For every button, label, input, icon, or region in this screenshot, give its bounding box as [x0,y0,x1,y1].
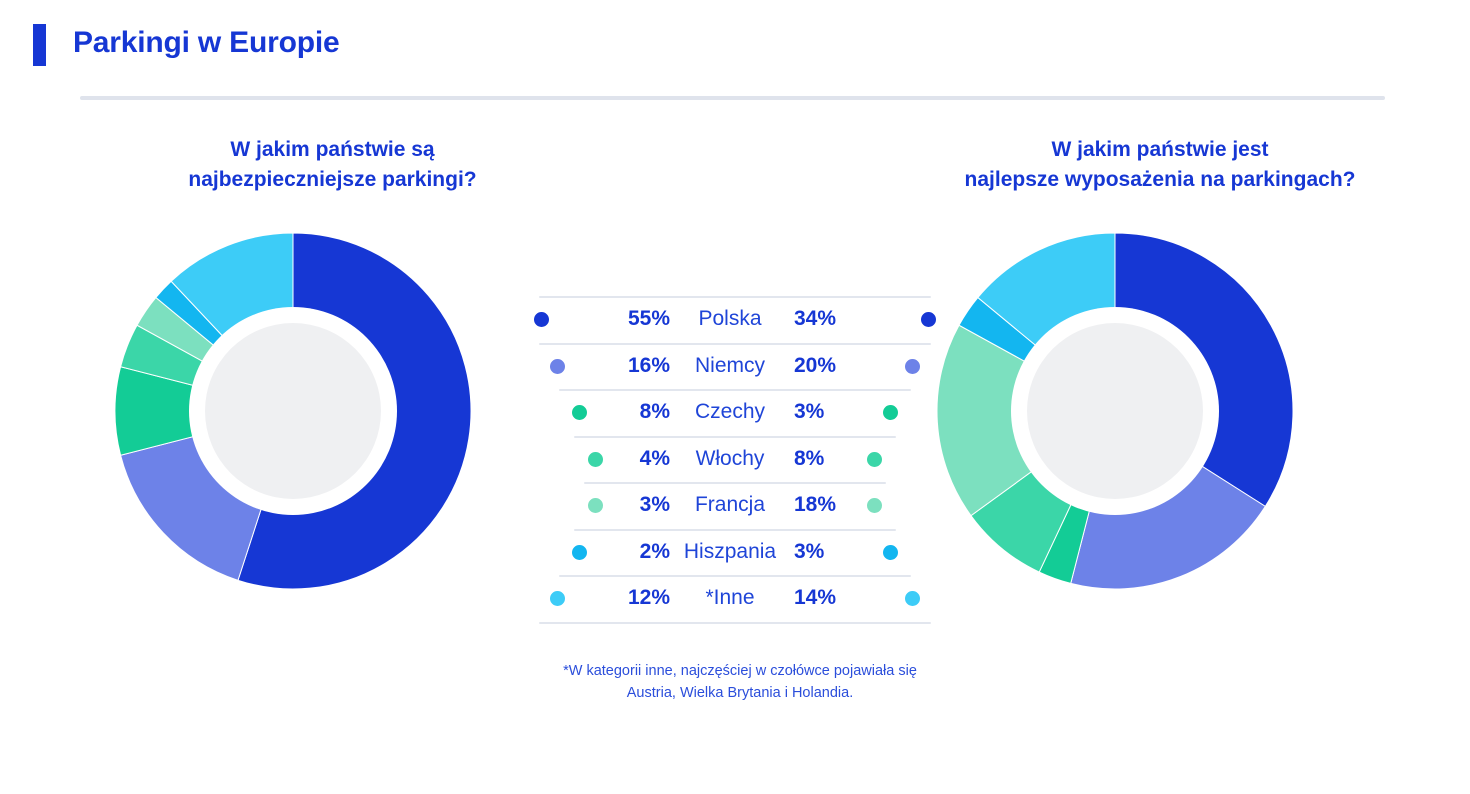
legend-row-divider [539,296,931,298]
legend-value-right: 3% [794,538,878,566]
legend-country-name: Niemcy [665,352,795,380]
donut-chart-left-svg [113,231,473,591]
legend-value-left: 55% [586,305,670,333]
legend-value-left: 2% [586,538,670,566]
legend-dot-right-icon [883,405,898,420]
legend-country-name: Hiszpania [665,538,795,566]
legend-row-divider [574,529,896,531]
page-header: Parkingi w Europie [0,0,1470,110]
legend-dot-right-icon [905,591,920,606]
chart-heading-right-line2: najlepsze wyposażenia na parkingach? [880,165,1440,195]
donut-chart-right-svg [935,231,1295,591]
donut-chart-left [113,231,473,591]
legend-row-divider [584,482,886,484]
legend-dot-left-icon [572,405,587,420]
legend-dot-left-icon [550,591,565,606]
legend-value-right: 14% [794,584,878,612]
donut-right-hole [1027,323,1203,499]
legend-country-name: Czechy [665,398,795,426]
chart-heading-left: W jakim państwie są najbezpieczniejsze p… [60,135,605,195]
legend-table: 55%Polska34%16%Niemcy20%8%Czechy3%4%Włoc… [530,296,940,626]
legend-value-left: 16% [586,352,670,380]
legend-value-right: 18% [794,491,878,519]
legend-row: 3%Francja18% [530,482,940,528]
legend-value-right: 34% [794,305,878,333]
legend-row: 4%Włochy8% [530,436,940,482]
legend-row-divider [539,622,931,624]
legend-row-divider [559,389,911,391]
legend-dot-left-icon [572,545,587,560]
legend-value-right: 8% [794,445,878,473]
footnote-line1: *W kategorii inne, najczęściej w czołówc… [520,660,960,682]
legend-row: 8%Czechy3% [530,389,940,435]
legend-row-divider [574,436,896,438]
legend-dot-right-icon [883,545,898,560]
legend-row: 12%*Inne14% [530,575,940,621]
chart-heading-left-line2: najbezpieczniejsze parkingi? [60,165,605,195]
footnote: *W kategorii inne, najczęściej w czołówc… [520,660,960,704]
legend-dot-left-icon [550,359,565,374]
chart-heading-right: W jakim państwie jest najlepsze wyposaże… [880,135,1440,195]
legend-row: 16%Niemcy20% [530,343,940,389]
chart-heading-left-line1: W jakim państwie są [60,135,605,165]
legend-row: 55%Polska34% [530,296,940,342]
donut-left-hole [205,323,381,499]
legend-value-left: 8% [586,398,670,426]
legend-dot-right-icon [921,312,936,327]
chart-heading-right-line1: W jakim państwie jest [880,135,1440,165]
page-title: Parkingi w Europie [73,26,339,60]
legend-value-left: 3% [586,491,670,519]
legend-dot-left-icon [534,312,549,327]
legend-value-right: 3% [794,398,878,426]
legend-value-left: 4% [586,445,670,473]
legend-row-divider [539,343,931,345]
donut-chart-right [935,231,1295,591]
legend-country-name: Polska [665,305,795,333]
legend-row-divider [559,575,911,577]
legend-value-right: 20% [794,352,878,380]
legend-dot-right-icon [905,359,920,374]
legend-country-name: *Inne [665,584,795,612]
legend-country-name: Francja [665,491,795,519]
footnote-line2: Austria, Wielka Brytania i Holandia. [520,682,960,704]
header-divider [80,96,1385,100]
legend-value-left: 12% [586,584,670,612]
legend-country-name: Włochy [665,445,795,473]
legend-row: 2%Hiszpania3% [530,529,940,575]
accent-bar [33,24,46,66]
